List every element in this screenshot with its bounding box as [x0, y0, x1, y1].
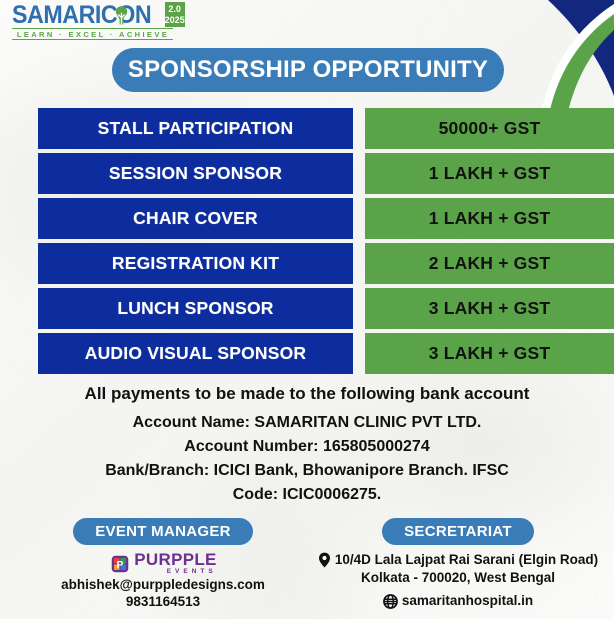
event-manager-pill: EVENT MANAGER	[73, 518, 253, 545]
sponsorship-price-label: 1 LAKH + GST	[429, 163, 551, 184]
sponsorship-item-label: STALL PARTICIPATION	[98, 118, 294, 139]
event-manager-column: EVENT MANAGER P PURPPLE EVENTS abhishek@…	[18, 518, 308, 610]
secretariat-website-text: samaritanhospital.in	[402, 592, 533, 610]
purpple-subtitle: EVENTS	[167, 569, 217, 576]
purpple-name: PURPPLE	[134, 551, 216, 568]
table-row: CHAIR COVER 1 LAKH + GST	[0, 198, 614, 239]
purpple-wordmark: PURPPLE EVENTS	[134, 551, 216, 576]
sponsorship-price-cell: 1 LAKH + GST	[365, 198, 614, 239]
corner-swoosh-decoration	[504, 0, 614, 120]
purpple-events-logo: P PURPPLE EVENTS	[18, 551, 308, 576]
sponsorship-price-cell: 50000+ GST	[365, 108, 614, 149]
event-manager-phone[interactable]: 9831164513	[18, 593, 308, 610]
map-pin-icon	[318, 552, 331, 568]
poster-footer: EVENT MANAGER P PURPPLE EVENTS abhishek@…	[0, 518, 614, 619]
logo-badge-top: 2.0	[168, 4, 181, 15]
sponsorship-price-label: 50000+ GST	[439, 118, 541, 139]
sponsorship-price-label: 3 LAKH + GST	[429, 343, 551, 364]
sponsorship-price-cell: 3 LAKH + GST	[365, 288, 614, 329]
secretariat-address-line-1: 10/4D Lala Lajpat Rai Sarani (Elgin Road…	[310, 551, 606, 569]
event-manager-email[interactable]: abhishek@purppledesigns.com	[18, 576, 308, 593]
secretariat-address-line-2: Kolkata - 700020, West Bengal	[310, 569, 606, 587]
sponsorship-price-label: 2 LAKH + GST	[429, 253, 551, 274]
kidney-icon	[110, 4, 133, 27]
sponsorship-price-label: 1 LAKH + GST	[429, 208, 551, 229]
bank-details-block: All payments to be made to the following…	[0, 384, 614, 507]
samaricon-logo: SAMARICON 2.0 2025 LEARN · EXCEL · ACHIE…	[12, 2, 182, 36]
sponsorship-item-label: AUDIO VISUAL SPONSOR	[85, 343, 307, 364]
page-title-pill: SPONSORSHIP OPPORTUNITY	[112, 48, 504, 92]
table-row: SESSION SPONSOR 1 LAKH + GST	[0, 153, 614, 194]
bank-branch-line: Bank/Branch: ICICI Bank, Bhowanipore Bra…	[0, 459, 614, 483]
sponsorship-item-cell: CHAIR COVER	[38, 198, 353, 239]
sponsorship-price-cell: 1 LAKH + GST	[365, 153, 614, 194]
sponsorship-price-cell: 3 LAKH + GST	[365, 333, 614, 374]
sponsorship-item-label: REGISTRATION KIT	[112, 253, 279, 274]
sponsorship-price-label: 3 LAKH + GST	[429, 298, 551, 319]
sponsorship-item-label: CHAIR COVER	[133, 208, 258, 229]
table-row: LUNCH SPONSOR 3 LAKH + GST	[0, 288, 614, 329]
table-row: STALL PARTICIPATION 50000+ GST	[0, 108, 614, 149]
globe-icon	[383, 594, 398, 609]
secretariat-pill: SECRETARIAT	[382, 518, 534, 545]
bank-account-number: Account Number: 165805000274	[0, 435, 614, 459]
logo-wordmark-row: SAMARICON 2.0 2025	[12, 2, 182, 27]
sponsorship-item-cell: STALL PARTICIPATION	[38, 108, 353, 149]
svg-text:P: P	[117, 559, 124, 570]
sponsorship-table: STALL PARTICIPATION 50000+ GST SESSION S…	[0, 108, 614, 378]
secretariat-website-line[interactable]: samaritanhospital.in	[310, 592, 606, 610]
sponsorship-poster: SAMARICON 2.0 2025 LEARN · EXCEL · ACHIE…	[0, 0, 614, 619]
sponsorship-item-label: LUNCH SPONSOR	[117, 298, 273, 319]
logo-tagline: LEARN · EXCEL · ACHIEVE	[12, 28, 173, 40]
sponsorship-item-cell: AUDIO VISUAL SPONSOR	[38, 333, 353, 374]
table-row: REGISTRATION KIT 2 LAKH + GST	[0, 243, 614, 284]
secretariat-address-text-2: Kolkata - 700020, West Bengal	[361, 569, 555, 587]
page-title: SPONSORSHIP OPPORTUNITY	[128, 56, 488, 84]
secretariat-address-text-1: 10/4D Lala Lajpat Rai Sarani (Elgin Road…	[335, 551, 598, 569]
sponsorship-item-cell: REGISTRATION KIT	[38, 243, 353, 284]
sponsorship-price-cell: 2 LAKH + GST	[365, 243, 614, 284]
bank-ifsc-line: Code: ICIC0006275.	[0, 483, 614, 507]
logo-badge-bottom: 2025	[165, 15, 185, 26]
sponsorship-item-cell: LUNCH SPONSOR	[38, 288, 353, 329]
logo-edition-badge: 2.0 2025	[165, 2, 185, 27]
bank-heading: All payments to be made to the following…	[0, 384, 614, 404]
secretariat-column: SECRETARIAT 10/4D Lala Lajpat Rai Sarani…	[310, 518, 606, 610]
bank-account-name: Account Name: SAMARITAN CLINIC PVT LTD.	[0, 411, 614, 435]
sponsorship-item-label: SESSION SPONSOR	[109, 163, 282, 184]
purpple-square-icon: P	[109, 553, 131, 575]
sponsorship-item-cell: SESSION SPONSOR	[38, 153, 353, 194]
table-row: AUDIO VISUAL SPONSOR 3 LAKH + GST	[0, 333, 614, 374]
